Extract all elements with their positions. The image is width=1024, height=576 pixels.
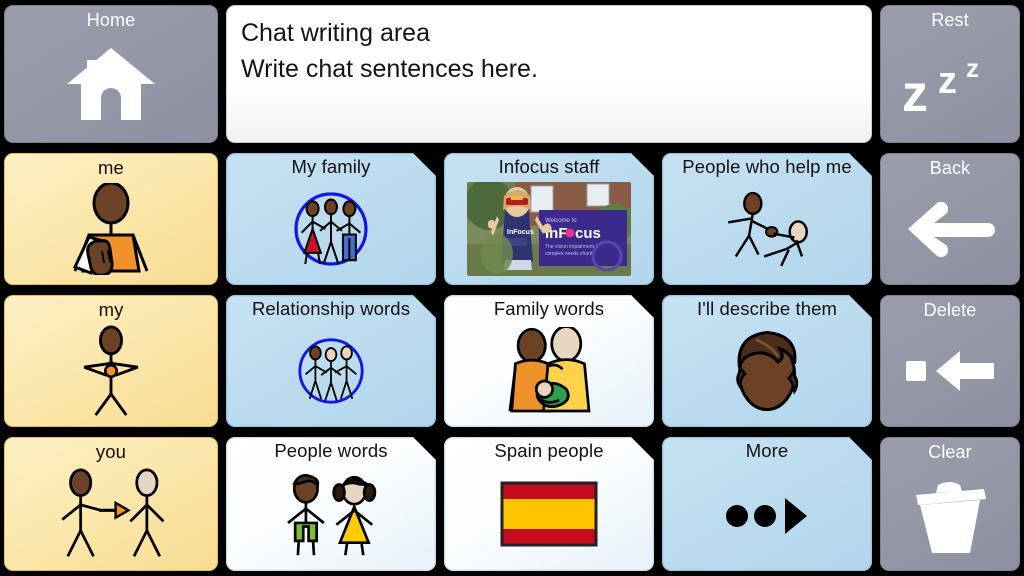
cell-more-wrap: More	[658, 432, 876, 576]
cell-you[interactable]: you	[4, 437, 218, 571]
cell-family-words-label: Family words	[444, 295, 654, 320]
cell-my-label: my	[5, 296, 217, 321]
cell-my-family-wrap: My family	[222, 148, 440, 290]
cell-relationship-wrap: Relationship words	[222, 290, 440, 432]
person-pointing-to-self-icon	[5, 179, 217, 284]
chat-line-2: Write chat sentences here.	[241, 52, 857, 86]
svg-text:z: z	[938, 60, 957, 102]
svg-text:InFocus: InFocus	[507, 229, 534, 236]
chat-writing-area[interactable]: Chat writing area Write chat sentences h…	[226, 5, 872, 143]
cell-back-wrap: Back	[876, 148, 1024, 290]
cell-describe-wrap: I'll describe them	[658, 290, 876, 432]
clear-label: Clear	[881, 438, 1019, 462]
cell-delete-wrap: Delete	[876, 290, 1024, 432]
cell-you-label: you	[5, 438, 217, 463]
cell-more[interactable]: More	[662, 437, 872, 571]
cell-spain-people-label: Spain people	[444, 437, 654, 462]
zzz-icon: z z z	[881, 30, 1019, 142]
house-icon	[5, 30, 217, 142]
cell-infocus-staff[interactable]: Infocus staff	[444, 153, 654, 285]
cell-more-label: More	[662, 437, 872, 462]
boy-and-girl-icon	[226, 462, 436, 571]
cell-home-wrap: Home	[0, 0, 222, 148]
cell-infocus-staff-label: Infocus staff	[444, 153, 654, 178]
cell-my-family-label: My family	[226, 153, 436, 178]
photo-infocus-banner: Welcome to InF cus The vision impairment…	[444, 178, 654, 285]
cell-clear-wrap: Clear	[876, 432, 1024, 576]
delete-label: Delete	[881, 296, 1019, 320]
clear-button[interactable]: Clear	[880, 437, 1020, 571]
cell-people-words-wrap: People words	[222, 432, 440, 576]
family-with-baby-icon	[444, 320, 654, 427]
person-pointing-at-other-icon	[5, 463, 217, 570]
svg-text:z: z	[902, 65, 928, 123]
head-with-hair-icon	[662, 320, 872, 427]
person-helping-person-icon	[662, 178, 872, 285]
two-dots-triangle-icon	[662, 462, 872, 571]
cell-my-family[interactable]: My family	[226, 153, 436, 285]
cell-relationship-label: Relationship words	[226, 295, 436, 320]
rest-button[interactable]: Rest z z z	[880, 5, 1020, 143]
arrow-left-icon	[881, 178, 1019, 284]
cell-family-words[interactable]: Family words	[444, 295, 654, 427]
communication-board: Home Chat writing area Write chat senten…	[0, 0, 1024, 576]
cell-me[interactable]: me	[4, 153, 218, 285]
chat-line-1: Chat writing area	[241, 16, 857, 50]
cell-relationship-words[interactable]: Relationship words	[226, 295, 436, 427]
home-label: Home	[5, 6, 217, 30]
svg-text:Welcome to: Welcome to	[545, 218, 577, 224]
cell-describe-label: I'll describe them	[662, 295, 872, 320]
three-people-in-circle-icon	[226, 320, 436, 427]
cell-my[interactable]: my	[4, 295, 218, 427]
svg-text:The vision impairment &: The vision impairment &	[545, 244, 599, 250]
trash-can-icon	[881, 462, 1019, 570]
rest-label: Rest	[881, 6, 1019, 30]
svg-text:cus: cus	[575, 225, 601, 242]
person-hands-on-chest-icon	[5, 321, 217, 426]
cell-ill-describe-them[interactable]: I'll describe them	[662, 295, 872, 427]
cell-family-words-wrap: Family words	[440, 290, 658, 432]
cell-infocus-staff-wrap: Infocus staff	[440, 148, 658, 290]
cell-people-words-label: People words	[226, 437, 436, 462]
three-people-in-circle-icon	[226, 178, 436, 285]
cell-people-help-label: People who help me	[662, 153, 872, 178]
back-label: Back	[881, 154, 1019, 178]
cell-people-who-help-me[interactable]: People who help me	[662, 153, 872, 285]
cell-you-wrap: you	[0, 432, 222, 576]
cell-spain-people-wrap: Spain people	[440, 432, 658, 576]
delete-button[interactable]: Delete	[880, 295, 1020, 427]
spain-flag-icon	[444, 462, 654, 571]
cell-spain-people[interactable]: Spain people	[444, 437, 654, 571]
backspace-icon	[881, 320, 1019, 426]
back-button[interactable]: Back	[880, 153, 1020, 285]
cell-people-help-wrap: People who help me	[658, 148, 876, 290]
cell-my-wrap: my	[0, 290, 222, 432]
chat-area-wrap: Chat writing area Write chat sentences h…	[222, 0, 876, 148]
svg-text:z: z	[966, 53, 979, 83]
cell-me-wrap: me	[0, 148, 222, 290]
svg-text:complex needs charity: complex needs charity	[545, 251, 595, 257]
home-button[interactable]: Home	[4, 5, 218, 143]
cell-people-words[interactable]: People words	[226, 437, 436, 571]
cell-me-label: me	[5, 154, 217, 179]
cell-rest-wrap: Rest z z z	[876, 0, 1024, 148]
